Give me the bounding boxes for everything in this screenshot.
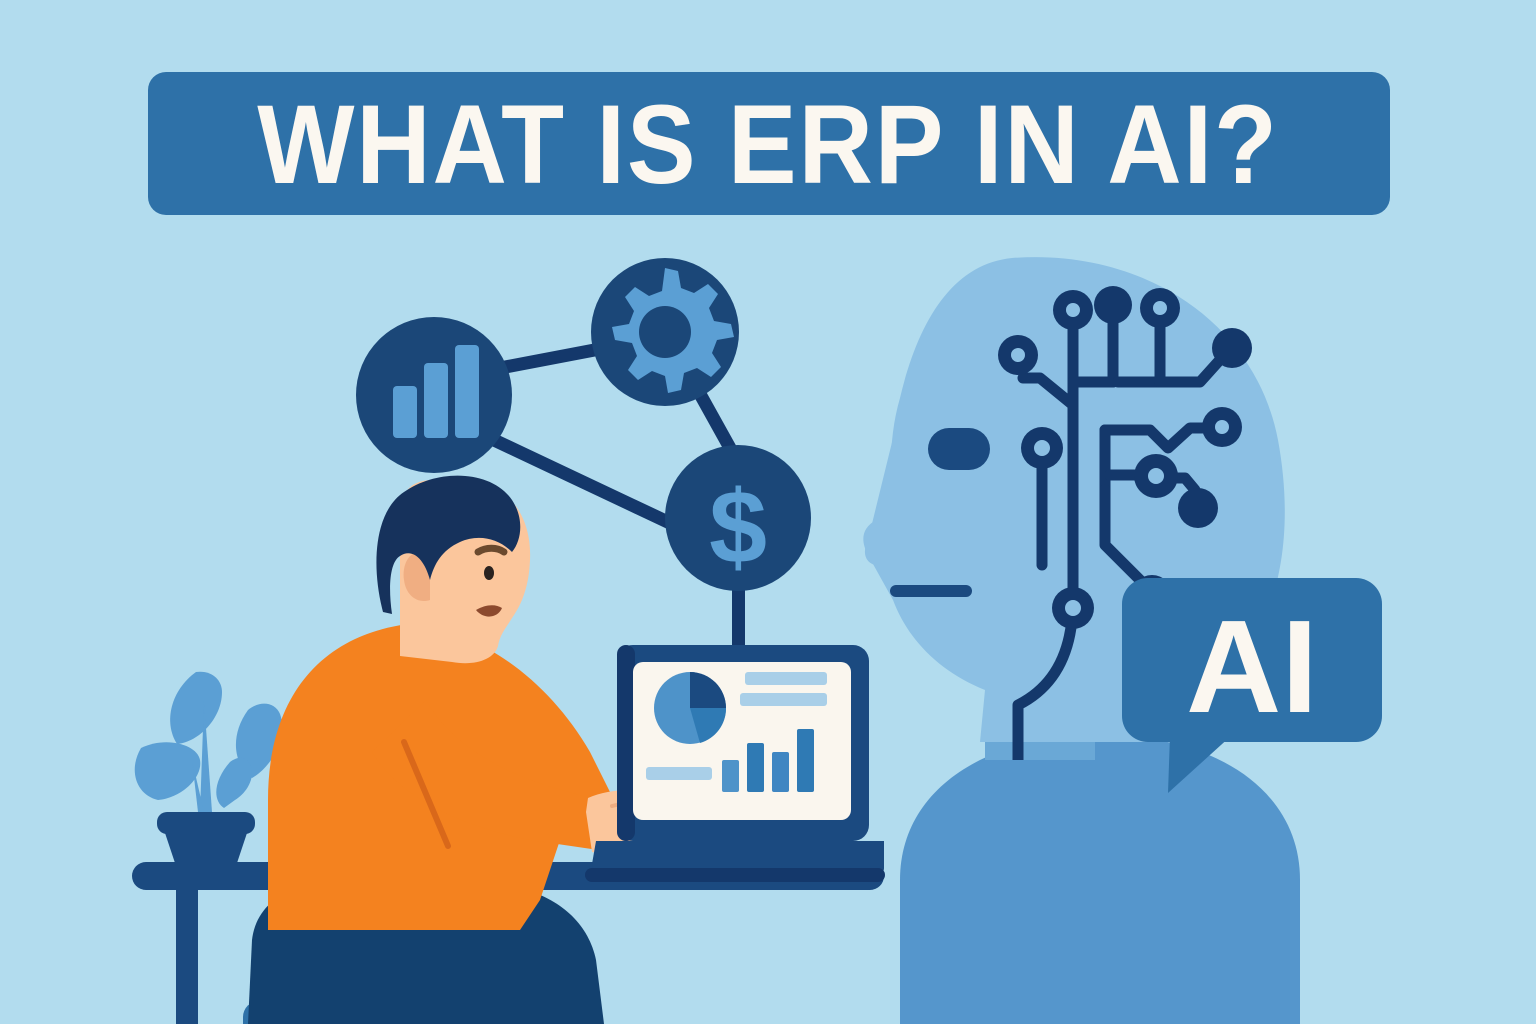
laptop — [585, 645, 885, 882]
desk-leg — [176, 886, 198, 1024]
ai-body — [900, 735, 1300, 1024]
person-eyebrow — [478, 548, 504, 552]
scene-svg: WHAT IS ERP IN AI? — [0, 0, 1536, 1024]
speech-bubble-label: AI — [1186, 593, 1318, 740]
dashboard-bar — [747, 743, 764, 792]
ai-eye — [928, 428, 990, 470]
dashboard-bar — [797, 729, 814, 792]
dashboard-text-bar — [740, 693, 827, 706]
dashboard-bar — [722, 760, 739, 792]
laptop-lid-shadow — [617, 645, 635, 841]
dashboard-bar — [772, 752, 789, 792]
page-title: WHAT IS ERP IN AI? — [257, 82, 1279, 207]
illustration-canvas: WHAT IS ERP IN AI? — [0, 0, 1536, 1024]
dollar-icon: $ — [709, 470, 767, 586]
network-node-analytics[interactable] — [356, 317, 512, 473]
plant-pot — [165, 833, 247, 866]
ai-mouth — [890, 585, 972, 597]
laptop-base-edge — [585, 868, 885, 882]
dashboard-pie-chart — [654, 672, 726, 744]
svg-text:$: $ — [709, 470, 767, 586]
plant-pot-rim — [157, 812, 255, 834]
person-eye — [484, 566, 494, 580]
title-banner: WHAT IS ERP IN AI? — [148, 72, 1390, 215]
network-node-operations[interactable] — [591, 258, 739, 406]
dashboard-text-bar — [745, 672, 827, 685]
dashboard-text-bar — [646, 767, 712, 780]
network-node-finance[interactable]: $ — [665, 445, 811, 591]
